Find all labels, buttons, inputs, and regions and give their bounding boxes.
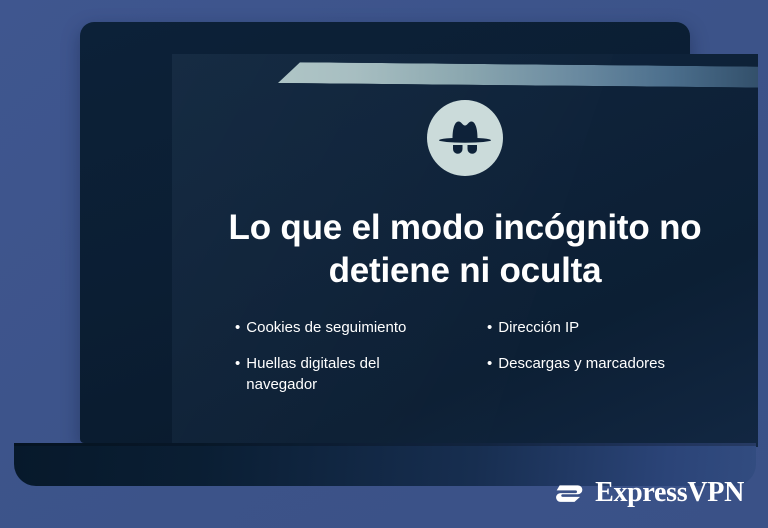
list-item: • Cookies de seguimiento [235, 318, 443, 338]
slide-title: Lo que el modo incógnito no detiene ni o… [205, 206, 725, 292]
list-item-label: Descargas y marcadores [498, 354, 695, 374]
list-item-label: Cookies de seguimiento [246, 318, 443, 338]
incognito-hat-glasses-icon [437, 116, 493, 160]
laptop-lid: Lo que el modo incógnito no detiene ni o… [80, 22, 690, 443]
bullet-dot-icon: • [487, 354, 492, 374]
brand-name: ExpressVPN [595, 477, 744, 509]
list-item-label: Huellas digitales del navegador [246, 354, 443, 395]
list-item: • Dirección IP [487, 318, 695, 338]
slide-content: Lo que el modo incógnito no detiene ni o… [172, 54, 758, 447]
list-item: • Huellas digitales del navegador [235, 354, 443, 395]
bullet-dot-icon: • [235, 318, 240, 338]
bullet-dot-icon: • [487, 318, 492, 338]
bullet-column-right: • Dirección IP • Descargas y marcadores [487, 318, 695, 411]
list-item-label: Dirección IP [498, 318, 695, 338]
bullet-column-left: • Cookies de seguimiento • Huellas digit… [235, 318, 443, 411]
bullet-dot-icon: • [235, 354, 240, 374]
brand-lockup: ExpressVPN [552, 476, 744, 510]
list-item: • Descargas y marcadores [487, 354, 695, 374]
expressvpn-e-mark-icon [552, 476, 586, 510]
slide-canvas: Lo que el modo incógnito no detiene ni o… [0, 0, 768, 528]
laptop-screen: Lo que el modo incógnito no detiene ni o… [172, 54, 758, 447]
bullet-columns: • Cookies de seguimiento • Huellas digit… [215, 318, 715, 411]
incognito-badge [427, 100, 503, 176]
